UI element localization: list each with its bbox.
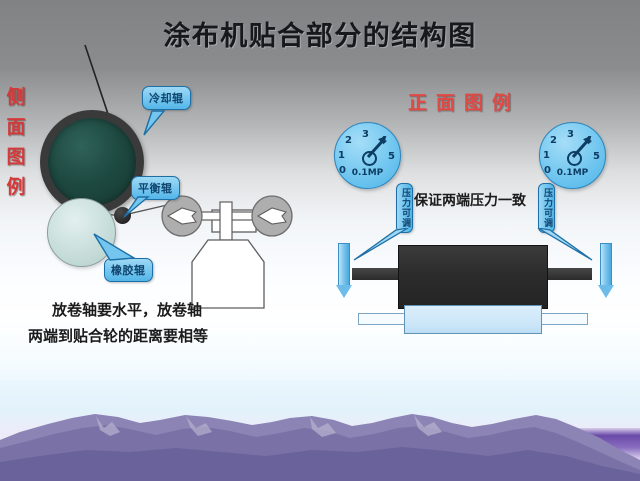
front-view-top-shaft-right [544, 268, 592, 280]
front-view-bottom-shaft-right [538, 313, 588, 325]
gauge-right-unit: 0.1MP [540, 168, 605, 178]
side-view-caption: 放卷轴要水平，放卷轴 两端到贴合轮的距离要相等 [28, 297, 318, 349]
gauge-left-tick-3: 3 [362, 129, 369, 140]
callout-rubber-roller-tail [92, 232, 152, 264]
front-view-legend: 正面图例 [408, 88, 520, 115]
pressure-gauge-left[interactable]: 0 1 2 3 4 5 0.1MP [334, 122, 401, 189]
gauge-left-hub [362, 151, 377, 166]
callout-balance-roller-tail [118, 193, 154, 223]
callout-cooling-roller-tail [130, 105, 170, 141]
callout-pressure-adjustable-right[interactable]: 压力可调 [538, 183, 555, 233]
front-view-bottom-roller [404, 305, 542, 334]
mountain-silhouette [0, 380, 640, 481]
front-view-note: 保证两端压力一致 [414, 190, 526, 210]
gauge-right-tick-2: 2 [550, 135, 557, 146]
gauge-left-tick-2: 2 [345, 135, 352, 146]
gauge-right-tick-1: 1 [543, 150, 550, 161]
pressure-gauge-right[interactable]: 0 1 2 3 4 5 0.1MP [539, 122, 606, 189]
gauge-left-tick-1: 1 [338, 150, 345, 161]
slide-canvas: 涂布机贴合部分的结构图 侧 面 图 例 正面图例 冷却辊 平衡辊 橡胶辊 [0, 0, 640, 481]
front-view-top-roller [398, 245, 548, 309]
gauge-left-unit: 0.1MP [335, 168, 400, 178]
gauge-left-tick-5: 5 [388, 151, 395, 162]
pressure-arrow-right [598, 243, 614, 298]
pressure-arrow-left [336, 243, 352, 298]
front-view-bottom-shaft-left [358, 313, 408, 325]
front-view-top-shaft-left [352, 268, 400, 280]
gauge-right-hub [567, 151, 582, 166]
caption-line-1: 放卷轴要水平，放卷轴 [28, 297, 318, 323]
gauge-right-tick-5: 5 [593, 151, 600, 162]
caption-line-2: 两端到贴合轮的距离要相等 [28, 323, 318, 349]
gauge-right-tick-3: 3 [567, 129, 574, 140]
callout-pressure-adjustable-left[interactable]: 压力可调 [396, 183, 413, 233]
